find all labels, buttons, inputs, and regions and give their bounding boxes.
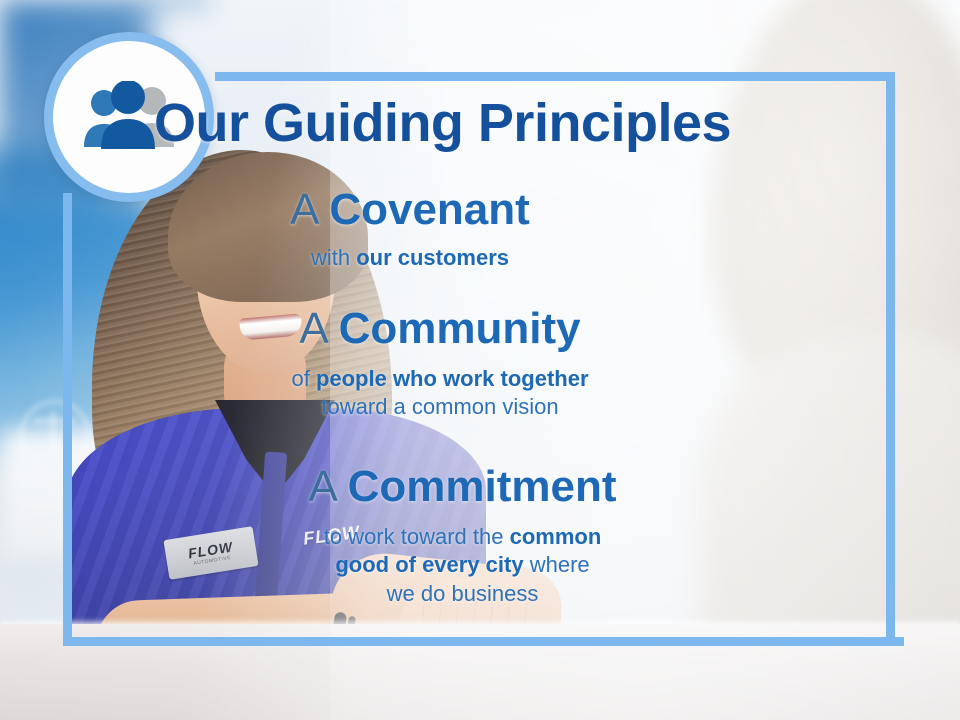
desk-surface xyxy=(0,624,960,720)
people-group-icon xyxy=(76,81,182,153)
guiding-principles-graphic: FLOW AUTOMOTIVE FLOW xyxy=(0,0,960,720)
people-group-badge xyxy=(44,32,214,202)
